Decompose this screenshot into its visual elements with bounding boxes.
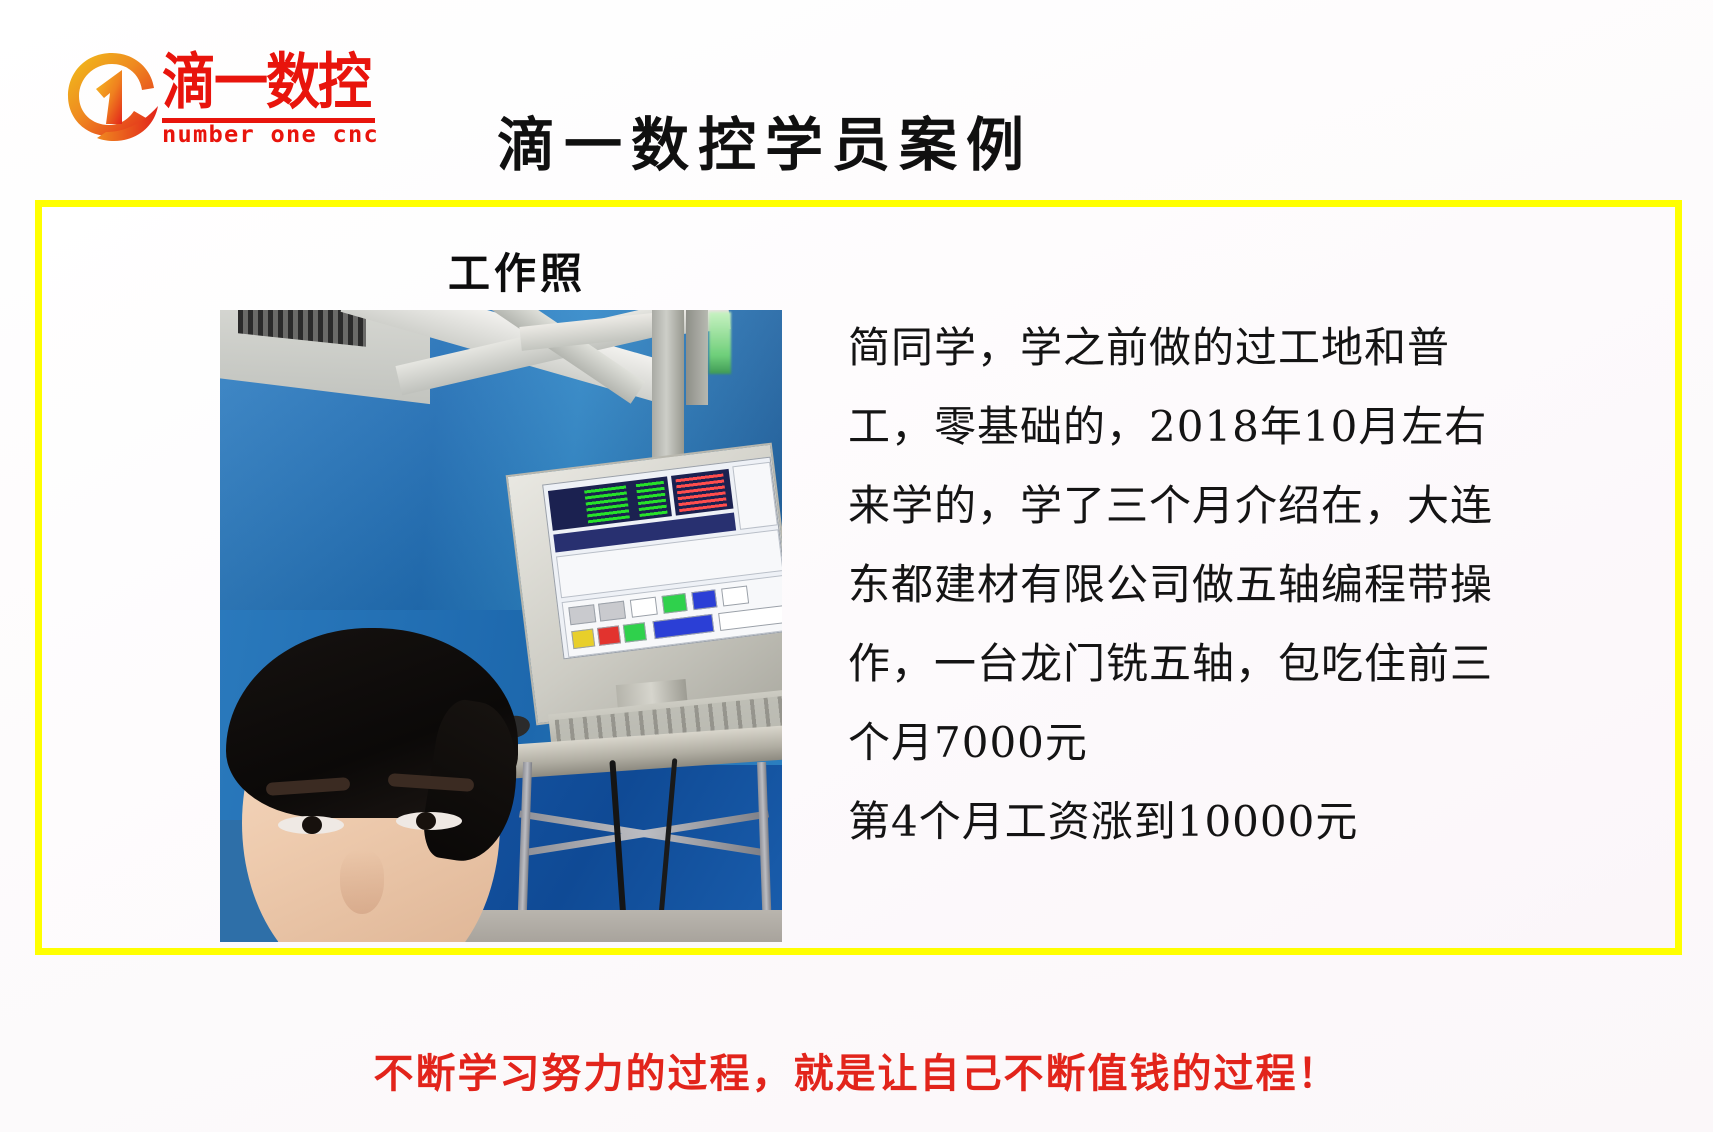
photo-caption-label: 工作照 bbox=[448, 250, 586, 298]
student-case-body-text: 简同学，学之前做的过工地和普工，零基础的，2018年10月左右来学的，学了三个月… bbox=[848, 308, 1518, 861]
photo-person-pupil-left bbox=[302, 816, 322, 834]
photo-screen-button-6 bbox=[721, 585, 749, 606]
photo-person-pupil-right bbox=[416, 812, 436, 830]
photo-person-nose bbox=[340, 850, 384, 914]
photo-screen-button-8 bbox=[597, 625, 621, 646]
page-title: 滴一数控学员案例 bbox=[455, 112, 1075, 178]
brand-logo[interactable]: 滴一数控 number one cnc bbox=[62, 44, 382, 148]
photo-screen-button-4 bbox=[662, 593, 688, 614]
motivational-footer-caption: 不断学习努力的过程，就是让自己不断值钱的过程！ bbox=[0, 1050, 1713, 1098]
slide-canvas: 滴一数控 number one cnc 滴一数控学员案例 工作照 bbox=[0, 0, 1713, 1132]
photo-screen-button-9 bbox=[623, 622, 647, 643]
student-work-photo bbox=[220, 310, 782, 942]
brand-logo-text: 滴一数控 number one cnc bbox=[162, 50, 380, 148]
brand-name-cn: 滴一数控 bbox=[162, 50, 380, 115]
photo-machine-post-secondary bbox=[686, 310, 708, 405]
photo-screen-button-2 bbox=[598, 601, 626, 622]
photo-concrete-floor bbox=[450, 910, 782, 942]
brand-name-en: number one cnc bbox=[162, 123, 387, 148]
photo-screen-button-1 bbox=[568, 604, 596, 625]
photo-cnc-monitor-screen bbox=[542, 457, 782, 660]
photo-green-indicator-light bbox=[709, 312, 731, 374]
photo-screen-green-readout-1 bbox=[584, 484, 630, 523]
photo-screen-button-3 bbox=[630, 597, 658, 618]
photo-screen-button-7 bbox=[571, 629, 595, 650]
number-one-cnc-swoosh-icon bbox=[62, 48, 162, 144]
photo-screen-red-readout bbox=[675, 473, 727, 513]
photo-screen-side-panel bbox=[732, 462, 778, 530]
photo-screen-button-5 bbox=[691, 589, 717, 610]
photo-screen-green-readout-2 bbox=[636, 480, 668, 517]
